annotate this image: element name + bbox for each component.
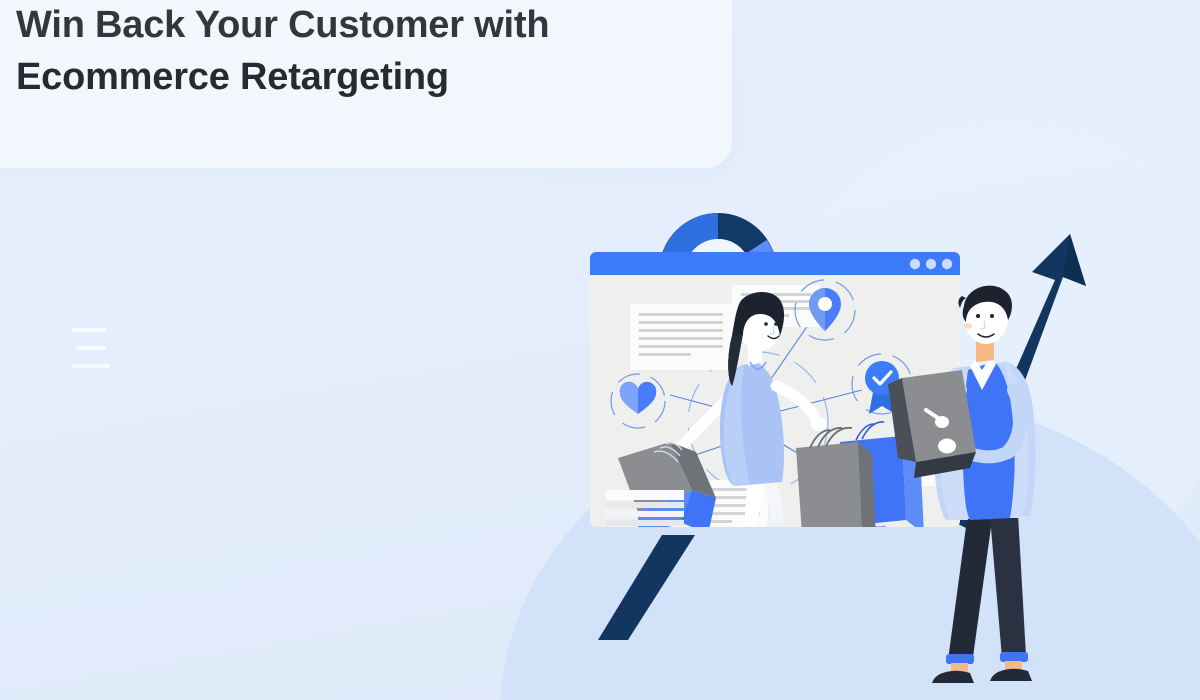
decorative-lines — [72, 328, 128, 382]
page-title: Win Back Your Customer with Ecommerce Re… — [16, 2, 676, 101]
hand-left — [938, 439, 956, 454]
browser-dot-3 — [942, 259, 952, 269]
headline-panel: Win Back Your Customer with Ecommerce Re… — [0, 0, 732, 168]
browser-dot-2 — [926, 259, 936, 269]
decorative-line-1 — [72, 328, 106, 332]
decorative-line-2 — [76, 346, 106, 350]
illustration: $ — [510, 190, 1150, 690]
pant-cuff-left — [946, 654, 974, 664]
hero-banner: $ — [0, 0, 1200, 700]
pant-cuff-right — [1000, 652, 1028, 662]
browser-dot-1 — [910, 259, 920, 269]
text-card-left — [630, 304, 732, 370]
browser-titlebar — [590, 252, 960, 275]
paper-stack — [606, 490, 684, 526]
decorative-line-3 — [72, 364, 110, 368]
headline-line-1: Win Back Your Customer with — [16, 2, 676, 48]
headline-line-2: Ecommerce Retargeting — [16, 54, 676, 100]
magnifier-handle — [598, 535, 695, 640]
